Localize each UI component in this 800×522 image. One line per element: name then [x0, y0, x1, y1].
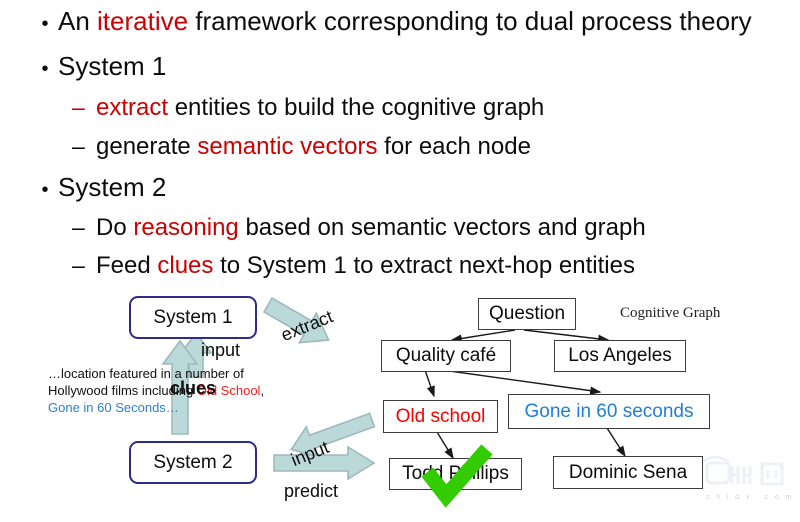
graph-node-gone-in-60-seconds[interactable]: Gone in 60 seconds	[508, 394, 710, 429]
bullet-text-seg: Do	[96, 214, 133, 241]
bullet-item-1: • An iterative framework corresponding t…	[32, 6, 752, 37]
bullet-marker: –	[72, 216, 96, 239]
graph-node-label: Old school	[396, 406, 486, 428]
bullet-marker: –	[72, 135, 96, 158]
bullet-text-seg: framework corresponding to dual process …	[188, 6, 752, 36]
bullet-text: System 1	[58, 51, 166, 82]
bullet-text: Do reasoning based on semantic vectors a…	[96, 214, 646, 242]
bullet-text-highlight: clues	[157, 252, 213, 279]
bullet-text-highlight: extract	[96, 94, 168, 121]
bullet-item-4: – generate semantic vectors for each nod…	[72, 133, 531, 161]
bullet-text-seg: for each node	[377, 133, 530, 160]
edge-old-school-todd-phillips	[437, 432, 453, 458]
clues-arrow-label: clues	[170, 378, 216, 399]
edge-quality-cafe-old-school	[425, 370, 434, 396]
evidence-snippet: …location featured in a number of Hollyw…	[48, 365, 264, 416]
watermark-text: z h i d x . c o m	[706, 494, 794, 501]
system-2-box[interactable]: System 2	[129, 441, 257, 484]
bullet-text-highlight: reasoning	[133, 214, 238, 241]
bullet-marker: –	[72, 254, 96, 277]
graph-node-label: Gone in 60 seconds	[524, 401, 693, 423]
snippet-line-1: …location featured in a number of	[48, 365, 264, 382]
cognitive-graph-title: Cognitive Graph	[620, 305, 720, 322]
graph-node-label: Quality café	[396, 345, 496, 367]
system-1-label: System 1	[153, 307, 232, 329]
bullet-marker: •	[32, 180, 58, 200]
bullet-item-2: • System 1	[32, 51, 166, 82]
bullet-marker: •	[32, 14, 58, 34]
snippet-line-3: Gone in 60 Seconds…	[48, 399, 264, 416]
bullet-item-6: – Do reasoning based on semantic vectors…	[72, 214, 646, 242]
graph-node-todd-phillips[interactable]: Todd Phillips	[389, 458, 522, 490]
graph-node-question[interactable]: Question	[478, 298, 576, 330]
edge-question-los-angeles	[524, 330, 608, 340]
graph-node-los-angeles[interactable]: Los Angeles	[554, 340, 686, 372]
bullet-marker: •	[32, 59, 58, 79]
extract-arrow-label: extract	[278, 306, 336, 346]
bullet-text-seg: An	[58, 6, 97, 36]
bullet-text: generate semantic vectors for each node	[96, 133, 531, 161]
graph-node-label: Question	[489, 303, 565, 325]
snippet-entity-gone-in-60-seconds: Gone in 60 Seconds…	[48, 400, 179, 415]
bullet-marker: –	[72, 96, 96, 119]
bullet-text-seg: based on semantic vectors and graph	[239, 214, 646, 241]
snippet-line-2: Hollywood films including Old School,	[48, 382, 264, 399]
graph-node-dominic-sena[interactable]: Dominic Sena	[553, 456, 703, 489]
bullet-item-7: – Feed clues to System 1 to extract next…	[72, 252, 635, 280]
bullet-text-seg: generate	[96, 133, 197, 160]
graph-node-old-school[interactable]: Old school	[383, 400, 498, 433]
bullet-text: System 2	[58, 172, 166, 203]
edge-question-quality-cafe	[452, 330, 515, 340]
edge-gone-in-60-seconds-dominic-sena	[607, 428, 625, 456]
bullet-item-5: • System 2	[32, 172, 166, 203]
bullet-text: Feed clues to System 1 to extract next-h…	[96, 252, 635, 280]
bullet-text-seg: to System 1 to extract next-hop entities	[213, 252, 635, 279]
bullet-text: extract entities to build the cognitive …	[96, 94, 544, 122]
bullet-text: An iterative framework corresponding to …	[58, 6, 752, 37]
slide-canvas: • An iterative framework corresponding t…	[0, 0, 800, 522]
bullet-item-3: – extract entities to build the cognitiv…	[72, 94, 544, 122]
bullet-text-seg: Feed	[96, 252, 157, 279]
predict-arrow-label: predict	[284, 481, 338, 502]
graph-node-label: Los Angeles	[568, 345, 672, 367]
bullet-text-highlight: iterative	[97, 6, 188, 36]
snippet-line-2-tail: ,	[260, 383, 264, 398]
bullet-text-seg: entities to build the cognitive graph	[168, 94, 544, 121]
bullet-text-highlight: semantic vectors	[197, 133, 377, 160]
graph-node-quality-cafe[interactable]: Quality café	[381, 340, 511, 372]
input-top-arrow-label: input	[201, 340, 240, 361]
system-2-label: System 2	[153, 452, 232, 474]
graph-node-label: Dominic Sena	[569, 462, 687, 484]
graph-node-label: Todd Phillips	[402, 463, 509, 485]
input-bottom-arrow-label: input	[288, 437, 332, 471]
system-1-box[interactable]: System 1	[129, 296, 257, 339]
